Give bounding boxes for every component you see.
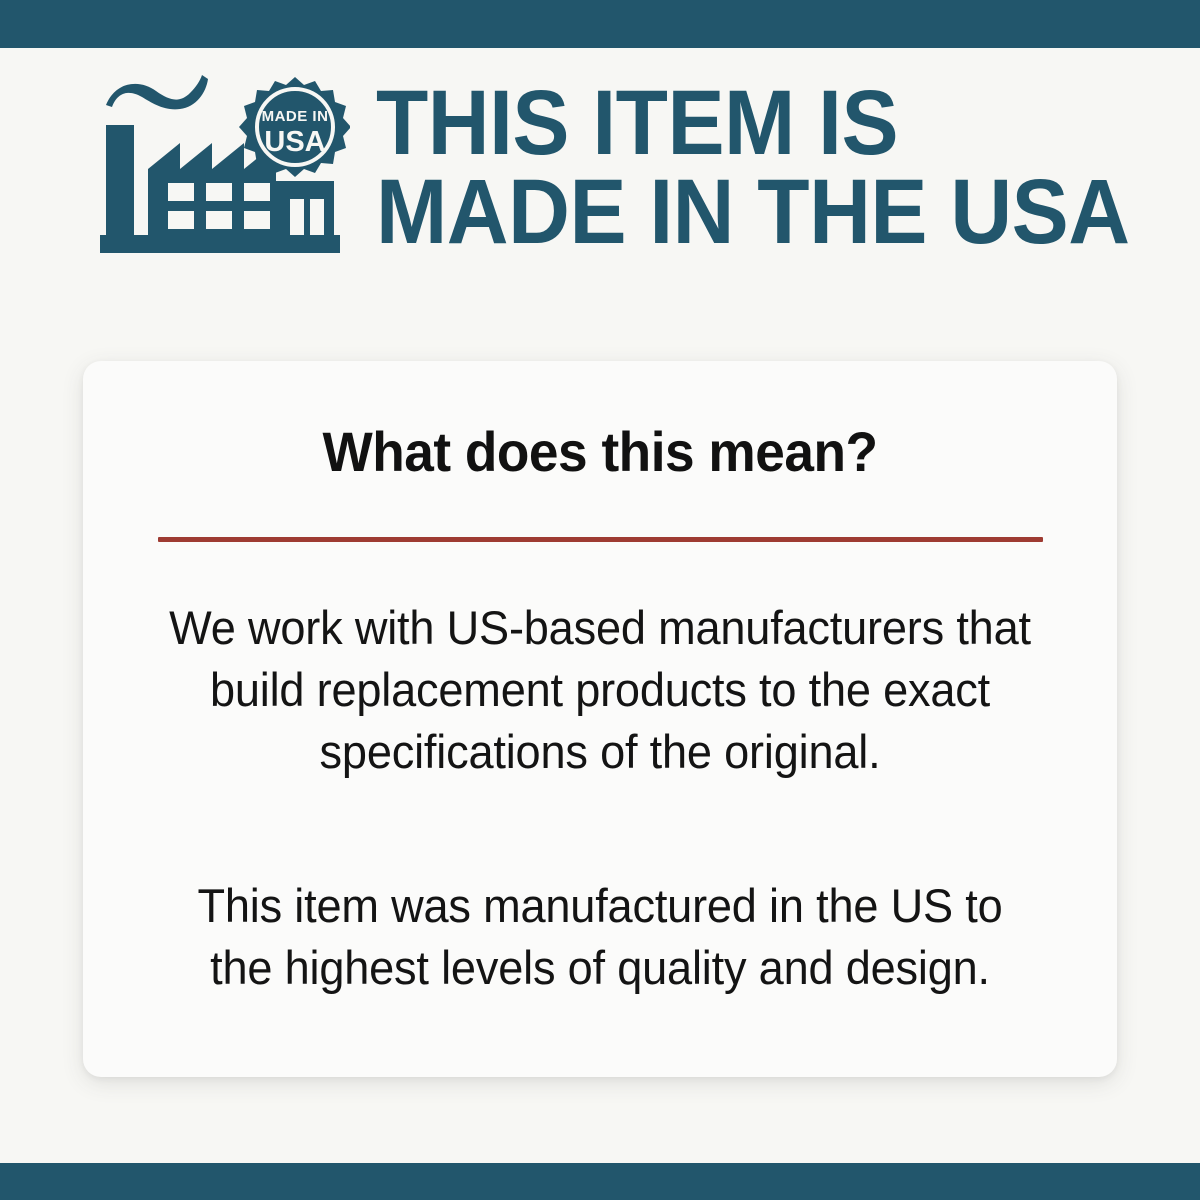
card-paragraph-2: This item was manufactured in the US to … (161, 875, 1038, 999)
bottom-accent-bar (0, 1163, 1200, 1200)
page-title: THIS ITEM IS MADE IN THE USA (376, 79, 1130, 257)
explanation-card: What does this mean? We work with US-bas… (83, 361, 1117, 1077)
factory-icon: MADE IN USA (100, 73, 350, 263)
header: MADE IN USA THIS ITEM IS MADE IN THE USA (0, 48, 1200, 288)
svg-text:MADE IN: MADE IN (262, 108, 329, 125)
headline-line-1: THIS ITEM IS (376, 72, 898, 174)
card-paragraph-1: We work with US-based manufacturers that… (161, 597, 1038, 783)
headline-line-2: MADE IN THE USA (376, 168, 1130, 257)
card-divider (158, 537, 1043, 542)
made-in-usa-banner: MADE IN USA THIS ITEM IS MADE IN THE USA… (0, 0, 1200, 1200)
card-title: What does this mean? (109, 419, 1091, 484)
top-accent-bar (0, 0, 1200, 48)
svg-text:USA: USA (264, 126, 325, 158)
